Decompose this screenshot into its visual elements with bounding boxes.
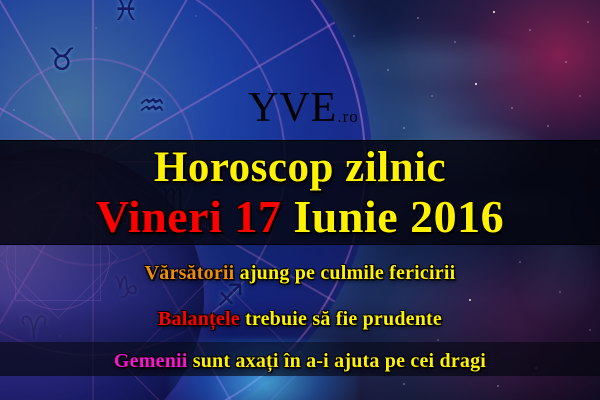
subtitle-row-3: Gemenii sunt axați în a-i ajuta pe cei d… [0, 350, 600, 372]
page-title-line-2: Vineri 17 Iunie 2016 [0, 192, 600, 242]
page-title-line-1: Horoscop zilnic [0, 145, 600, 191]
subtitle-3-sign: Gemenii [114, 350, 188, 372]
title-date-weekday: Vineri 17 [96, 191, 282, 242]
subtitle-2-text: trebuie să fie prudente [245, 308, 442, 330]
title-date-month-year: Iunie 2016 [293, 191, 504, 242]
subtitle-3-text: sunt axați în a-i ajuta pe cei dragi [193, 350, 486, 372]
subtitle-row-2: Balanțele trebuie să fie prudente [0, 308, 600, 330]
subtitle-1-sign: Vărsătorii [145, 262, 235, 284]
subtitle-2-sign: Balanțele [158, 308, 240, 330]
subtitle-row-1: Vărsătorii ajung pe culmile fericirii [0, 262, 600, 284]
title-line-1-text: Horoscop zilnic [154, 144, 446, 191]
subtitle-1-text: ajung pe culmile fericirii [240, 262, 456, 284]
horoscope-banner: ♉ ♒ ♏ ♑ ♈ ♓ ♐ YVE .ro Horoscop zilnic Vi… [0, 0, 600, 400]
text-layer: Horoscop zilnic Vineri 17 Iunie 2016 Văr… [0, 0, 600, 400]
